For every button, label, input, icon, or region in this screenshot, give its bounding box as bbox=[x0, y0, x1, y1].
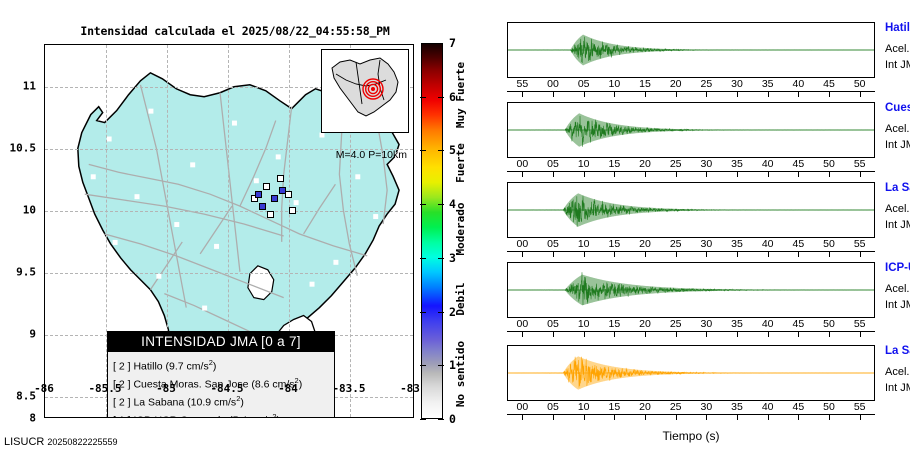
y-tick-label: 10 bbox=[0, 203, 36, 216]
axis-tick-label: 45 bbox=[788, 158, 808, 170]
axis-tick bbox=[522, 171, 523, 177]
magnitude-depth-label: M=4.0 P=10km bbox=[336, 149, 407, 161]
waveform-time-axis: 000510152025303540455055 bbox=[507, 238, 875, 258]
axis-tick-label: 35 bbox=[758, 78, 778, 90]
station-marker[interactable] bbox=[289, 207, 296, 214]
axis-tick bbox=[522, 331, 523, 337]
station-jma-intensity: Int JMA: 2 bbox=[885, 219, 910, 231]
waveform-time-axis: 550005101520253035404550 bbox=[507, 78, 875, 98]
axis-tick bbox=[768, 414, 769, 420]
axis-tick-label: 15 bbox=[604, 238, 624, 250]
axis-tick-label: 30 bbox=[696, 401, 716, 413]
axis-tick bbox=[584, 414, 585, 420]
axis-tick bbox=[584, 171, 585, 177]
axis-tick bbox=[584, 331, 585, 337]
axis-tick-label: 25 bbox=[666, 318, 686, 330]
axis-tick-label: 10 bbox=[604, 78, 624, 90]
station-jma-intensity: Int JMA: 1 bbox=[885, 299, 910, 311]
axis-tick-label: 55 bbox=[850, 401, 870, 413]
axis-tick bbox=[522, 414, 523, 420]
axis-tick bbox=[676, 91, 677, 97]
colorbar-tick bbox=[438, 312, 444, 313]
map-gridline bbox=[45, 211, 413, 212]
waveform-panel[interactable]: 000510152025303540455055La SabanaAcel. M… bbox=[507, 182, 875, 258]
axis-line bbox=[507, 251, 875, 252]
waveform-panel[interactable]: 000510152025303540455055La SabanaAcel. M… bbox=[507, 345, 875, 421]
intensity-legend: INTENSIDAD JMA [0 a 7] [ 2 ] Hatillo (9.… bbox=[107, 331, 335, 418]
axis-tick bbox=[614, 414, 615, 420]
colorbar-tick bbox=[438, 365, 444, 366]
axis-tick-label: 20 bbox=[635, 238, 655, 250]
axis-tick bbox=[645, 331, 646, 337]
colorbar-tick bbox=[420, 204, 426, 205]
axis-tick bbox=[553, 91, 554, 97]
station-marker[interactable] bbox=[285, 191, 292, 198]
axis-tick bbox=[706, 171, 707, 177]
axis-tick-label: 45 bbox=[788, 318, 808, 330]
axis-tick-label: 55 bbox=[850, 318, 870, 330]
axis-tick-label: 15 bbox=[604, 401, 624, 413]
station-name[interactable]: Cuesta Moras, San Jose bbox=[885, 102, 910, 114]
axis-tick-label: 00 bbox=[512, 401, 532, 413]
axis-tick-label: 35 bbox=[727, 318, 747, 330]
colorbar-tick bbox=[420, 97, 426, 98]
footer-timestamp: 20250822225559 bbox=[47, 437, 117, 447]
colorbar-category-label: Debil bbox=[454, 282, 467, 315]
legend-accel: (10.9 cm/s bbox=[187, 397, 236, 409]
axis-tick bbox=[860, 331, 861, 337]
legend-intensity: [ 2 ] bbox=[113, 397, 131, 409]
y-tick-label: 11 bbox=[0, 79, 36, 92]
axis-tick bbox=[737, 91, 738, 97]
axis-tick-label: 30 bbox=[696, 158, 716, 170]
waveform-station-info: Cuesta Moras, San JoseAcel. Max. 1.6Int … bbox=[885, 102, 910, 151]
station-marker[interactable] bbox=[279, 187, 286, 194]
waveform-plot[interactable] bbox=[507, 345, 875, 401]
axis-tick-label: 50 bbox=[819, 318, 839, 330]
station-jma-intensity: Int JMA: 2 bbox=[885, 139, 910, 151]
axis-tick-label: 00 bbox=[543, 78, 563, 90]
legend-station: La Sabana bbox=[133, 397, 184, 409]
axis-line bbox=[507, 91, 875, 92]
legend-row: [ 2 ] Hatillo (9.7 cm/s2) bbox=[113, 356, 329, 374]
epicenter-icon bbox=[362, 78, 384, 100]
axis-tick bbox=[676, 414, 677, 420]
colorbar-tick bbox=[438, 204, 444, 205]
axis-tick-label: 25 bbox=[666, 158, 686, 170]
axis-tick bbox=[737, 414, 738, 420]
axis-tick-label: 00 bbox=[512, 238, 532, 250]
axis-tick-label: 20 bbox=[666, 78, 686, 90]
axis-tick bbox=[798, 251, 799, 257]
axis-tick bbox=[676, 171, 677, 177]
colorbar-category-label: Moderado bbox=[454, 202, 467, 255]
axis-tick-label: 30 bbox=[727, 78, 747, 90]
intensity-colorbar[interactable]: 76543210 Muy FuerteFuerteModeradoDebilNo… bbox=[421, 43, 443, 419]
axis-tick bbox=[798, 331, 799, 337]
axis-tick-label: 55 bbox=[512, 78, 532, 90]
axis-tick bbox=[706, 331, 707, 337]
axis-tick bbox=[614, 91, 615, 97]
station-max-acceleration: Acel. Max. 1.4 bbox=[885, 283, 910, 295]
colorbar-tick bbox=[420, 365, 426, 366]
y-tick-label: 9.5 bbox=[0, 265, 36, 278]
axis-tick bbox=[645, 414, 646, 420]
colorbar-category-label: Muy Fuerte bbox=[454, 62, 467, 128]
waveform-plot[interactable] bbox=[507, 102, 875, 158]
station-jma-intensity: Int JMA: 2 bbox=[885, 382, 910, 394]
axis-tick-label: 05 bbox=[574, 78, 594, 90]
axis-tick-label: 20 bbox=[635, 158, 655, 170]
x-tick-label: -84 bbox=[260, 382, 316, 395]
axis-tick-label: 10 bbox=[574, 401, 594, 413]
axis-tick-label: 50 bbox=[850, 78, 870, 90]
axis-tick bbox=[768, 331, 769, 337]
axis-tick bbox=[798, 171, 799, 177]
colorbar-category-label: Fuerte bbox=[454, 143, 467, 183]
footer-org: LISUCR bbox=[4, 436, 44, 448]
axis-tick-label: 05 bbox=[543, 158, 563, 170]
legend-station: ICP-UCR Coronado bbox=[133, 415, 226, 418]
legend-intensity: [ 1 ] bbox=[113, 415, 131, 418]
station-name[interactable]: ICP-UCR Coronado bbox=[885, 262, 910, 274]
waveform-station-info: La SabanaAcel. Max. 1.6Int JMA: 2 bbox=[885, 345, 910, 394]
colorbar-tick bbox=[420, 258, 426, 259]
axis-line bbox=[507, 414, 875, 415]
station-marker[interactable] bbox=[259, 203, 266, 210]
legend-close: ) bbox=[213, 361, 217, 373]
legend-station: Hatillo bbox=[133, 361, 162, 373]
legend-intensity: [ 2 ] bbox=[113, 361, 131, 373]
waveform-time-axis: 000510152025303540455055 bbox=[507, 318, 875, 338]
x-tick-label: -83.5 bbox=[321, 382, 377, 395]
station-max-acceleration: Acel. Max. 1.6 bbox=[885, 203, 910, 215]
axis-line bbox=[507, 331, 875, 332]
colorbar-tick bbox=[438, 419, 444, 420]
axis-tick-label: 50 bbox=[819, 401, 839, 413]
colorbar-tick bbox=[420, 312, 426, 313]
axis-tick bbox=[645, 251, 646, 257]
axis-tick-label: 00 bbox=[512, 318, 532, 330]
waveform-panel[interactable]: 000510152025303540455055Cuesta Moras, Sa… bbox=[507, 102, 875, 178]
station-name[interactable]: Hatillo bbox=[885, 22, 910, 34]
axis-tick bbox=[860, 171, 861, 177]
axis-tick bbox=[768, 171, 769, 177]
colorbar-tick bbox=[438, 150, 444, 151]
legend-close: ) bbox=[277, 415, 281, 418]
waveform-station-info: La SabanaAcel. Max. 1.6Int JMA: 2 bbox=[885, 182, 910, 231]
axis-tick bbox=[737, 331, 738, 337]
axis-tick-label: 10 bbox=[574, 238, 594, 250]
axis-tick bbox=[676, 251, 677, 257]
axis-tick-label: 05 bbox=[543, 401, 563, 413]
map-gridline bbox=[45, 273, 413, 274]
station-marker[interactable] bbox=[277, 175, 284, 182]
x-tick-label: -85.5 bbox=[77, 382, 133, 395]
colorbar-number-7: 7 bbox=[449, 36, 463, 50]
axis-tick bbox=[614, 331, 615, 337]
station-marker[interactable] bbox=[255, 191, 262, 198]
axis-tick-label: 40 bbox=[758, 401, 778, 413]
axis-tick bbox=[737, 251, 738, 257]
legend-title: INTENSIDAD JMA [0 a 7] bbox=[108, 332, 334, 352]
station-marker[interactable] bbox=[263, 183, 270, 190]
axis-tick bbox=[860, 251, 861, 257]
colorbar-tick bbox=[438, 97, 444, 98]
legend-close: ) bbox=[240, 397, 244, 409]
station-name[interactable]: La Sabana bbox=[885, 345, 910, 357]
axis-tick-label: 15 bbox=[604, 158, 624, 170]
waveform-station-info: HatilloAcel. Max. 1.6Int JMA: 2 bbox=[885, 22, 910, 71]
waveform-station-info: ICP-UCR CoronadoAcel. Max. 1.4Int JMA: 1 bbox=[885, 262, 910, 311]
axis-tick-label: 05 bbox=[543, 318, 563, 330]
colorbar-tick bbox=[420, 419, 426, 420]
axis-tick-label: 20 bbox=[635, 318, 655, 330]
axis-tick bbox=[860, 91, 861, 97]
axis-tick-label: 00 bbox=[512, 158, 532, 170]
axis-tick-label: 10 bbox=[574, 158, 594, 170]
axis-tick bbox=[829, 251, 830, 257]
y-tick-label: 10.5 bbox=[0, 141, 36, 154]
axis-tick bbox=[829, 171, 830, 177]
axis-tick-label: 45 bbox=[788, 401, 808, 413]
locator-inset-map[interactable] bbox=[321, 49, 409, 133]
axis-tick-label: 05 bbox=[543, 238, 563, 250]
axis-tick-label: 40 bbox=[758, 238, 778, 250]
axis-tick-label: 15 bbox=[635, 78, 655, 90]
axis-tick bbox=[522, 91, 523, 97]
colorbar-category-label: No sentido bbox=[454, 341, 467, 407]
axis-tick bbox=[522, 251, 523, 257]
axis-tick bbox=[614, 171, 615, 177]
axis-tick bbox=[584, 251, 585, 257]
waveform-time-axis: 000510152025303540455055 bbox=[507, 158, 875, 178]
axis-tick bbox=[768, 91, 769, 97]
axis-tick bbox=[706, 251, 707, 257]
station-max-acceleration: Acel. Max. 1.6 bbox=[885, 123, 910, 135]
axis-tick-label: 40 bbox=[788, 78, 808, 90]
axis-tick-label: 30 bbox=[696, 318, 716, 330]
colorbar-tick bbox=[438, 258, 444, 259]
station-max-acceleration: Acel. Max. 1.6 bbox=[885, 43, 910, 55]
page-title: Intensidad calculada el 2025/08/22_04:55… bbox=[70, 24, 400, 38]
y-tick-label: 9 bbox=[0, 327, 36, 340]
axis-tick bbox=[706, 91, 707, 97]
station-marker[interactable] bbox=[271, 195, 278, 202]
axis-tick-label: 15 bbox=[604, 318, 624, 330]
axis-tick-label: 35 bbox=[727, 158, 747, 170]
axis-tick-label: 45 bbox=[788, 238, 808, 250]
waveform-plot[interactable] bbox=[507, 22, 875, 78]
intensity-map[interactable]: M=4.0 P=10km INTENSIDAD JMA [0 a 7] [ 2 … bbox=[44, 44, 414, 418]
axis-tick bbox=[645, 171, 646, 177]
x-tick-label: -86 bbox=[16, 382, 72, 395]
axis-tick bbox=[798, 91, 799, 97]
axis-tick bbox=[706, 414, 707, 420]
axis-tick bbox=[798, 414, 799, 420]
axis-tick-label: 30 bbox=[696, 238, 716, 250]
axis-tick bbox=[829, 91, 830, 97]
axis-line bbox=[507, 171, 875, 172]
axis-tick-label: 50 bbox=[819, 158, 839, 170]
x-tick-label: -84.5 bbox=[199, 382, 255, 395]
axis-tick bbox=[676, 331, 677, 337]
axis-tick-label: 25 bbox=[696, 78, 716, 90]
axis-tick-label: 55 bbox=[850, 238, 870, 250]
legend-accel: (5.4 cm/s bbox=[229, 415, 272, 418]
footer-credit: LISUCR 20250822225559 bbox=[4, 436, 117, 448]
station-marker[interactable] bbox=[267, 211, 274, 218]
axis-tick bbox=[553, 331, 554, 337]
axis-tick-label: 10 bbox=[574, 318, 594, 330]
axis-tick-label: 45 bbox=[819, 78, 839, 90]
axis-tick-label: 25 bbox=[666, 401, 686, 413]
axis-tick bbox=[737, 171, 738, 177]
axis-tick bbox=[553, 414, 554, 420]
legend-accel: (9.7 cm/s bbox=[166, 361, 209, 373]
legend-row: [ 1 ] ICP-UCR Coronado (5.4 cm/s2) bbox=[113, 410, 329, 418]
axis-tick bbox=[829, 414, 830, 420]
colorbar-number-0: 0 bbox=[449, 412, 463, 426]
waveform-time-axis: 000510152025303540455055 bbox=[507, 401, 875, 421]
axis-tick bbox=[829, 331, 830, 337]
time-axis-label: Tiempo (s) bbox=[507, 429, 875, 443]
axis-tick bbox=[768, 251, 769, 257]
axis-tick-label: 35 bbox=[727, 238, 747, 250]
axis-tick bbox=[860, 414, 861, 420]
waveform-panel[interactable]: 000510152025303540455055ICP-UCR Coronado… bbox=[507, 262, 875, 338]
axis-tick-label: 25 bbox=[666, 238, 686, 250]
axis-tick bbox=[553, 251, 554, 257]
axis-tick-label: 40 bbox=[758, 158, 778, 170]
axis-tick bbox=[584, 91, 585, 97]
axis-tick-label: 35 bbox=[727, 401, 747, 413]
station-jma-intensity: Int JMA: 2 bbox=[885, 59, 910, 71]
axis-tick bbox=[645, 91, 646, 97]
axis-tick-label: 50 bbox=[819, 238, 839, 250]
axis-tick-label: 20 bbox=[635, 401, 655, 413]
station-name[interactable]: La Sabana bbox=[885, 182, 910, 194]
axis-tick bbox=[614, 251, 615, 257]
waveform-plot[interactable] bbox=[507, 262, 875, 318]
colorbar-gradient bbox=[421, 43, 443, 419]
y-tick-label: 8 bbox=[0, 411, 36, 424]
waveform-plot[interactable] bbox=[507, 182, 875, 238]
waveform-panel[interactable]: 550005101520253035404550HatilloAcel. Max… bbox=[507, 22, 875, 98]
colorbar-tick bbox=[420, 150, 426, 151]
axis-tick bbox=[553, 171, 554, 177]
x-tick-label: -85 bbox=[138, 382, 194, 395]
axis-tick-label: 40 bbox=[758, 318, 778, 330]
axis-tick-label: 55 bbox=[850, 158, 870, 170]
station-max-acceleration: Acel. Max. 1.6 bbox=[885, 366, 910, 378]
